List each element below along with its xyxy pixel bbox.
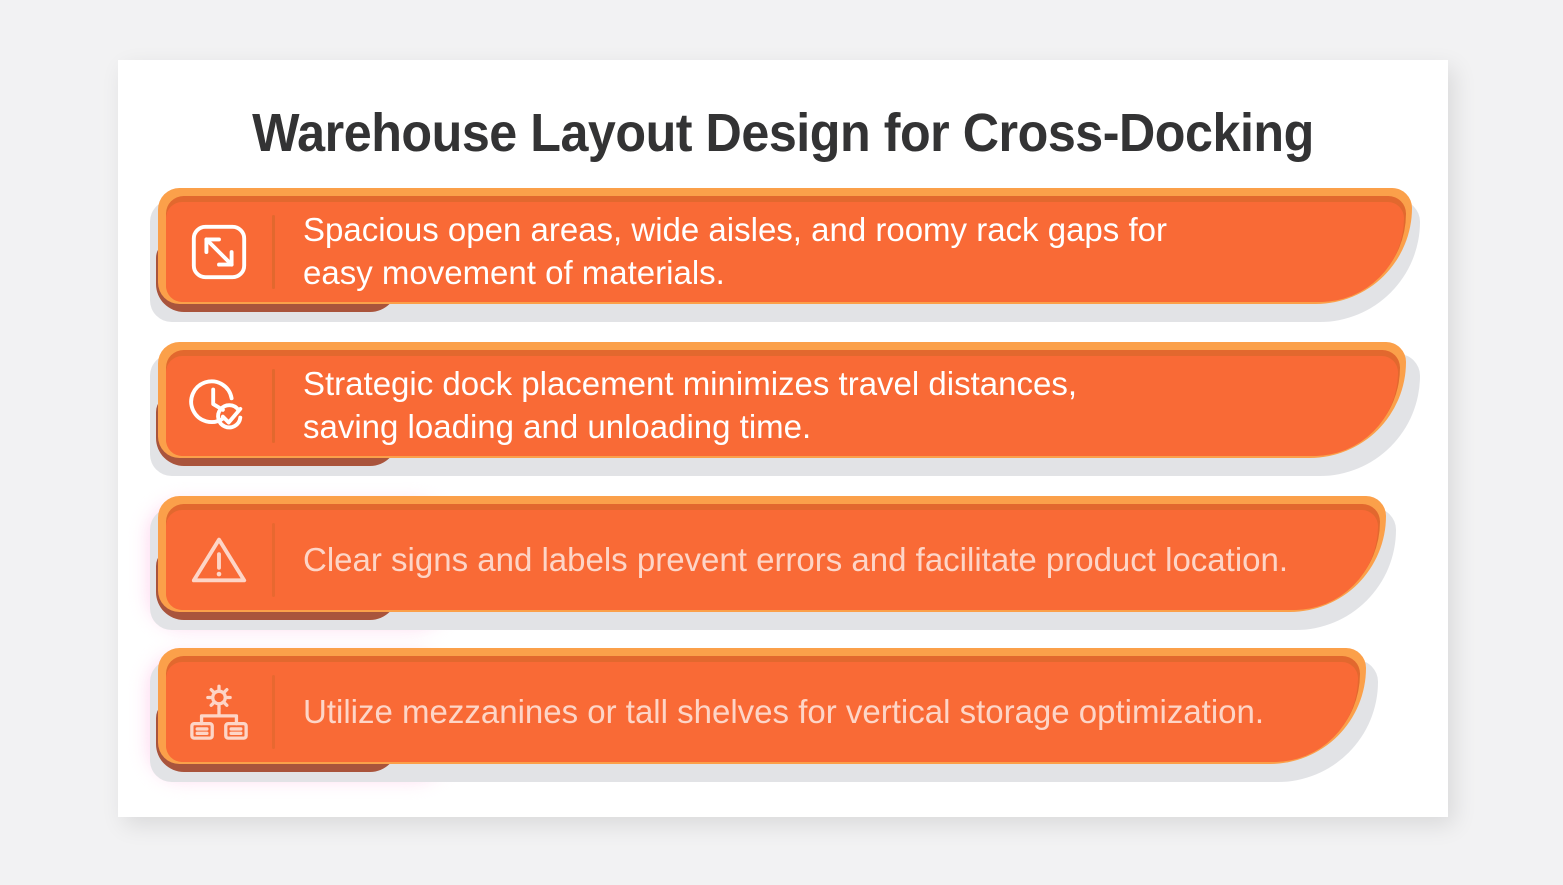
card-divider — [272, 369, 275, 443]
list-item-text: Spacious open areas, wide aisles, and ro… — [303, 209, 1167, 295]
card-content: Strategic dock placement minimizes trave… — [166, 356, 1077, 456]
card-content: Utilize mezzanines or tall shelves for v… — [166, 662, 1264, 762]
list-item-text: Utilize mezzanines or tall shelves for v… — [303, 691, 1264, 734]
list-item-text: Clear signs and labels prevent errors an… — [303, 539, 1288, 582]
card-content: Clear signs and labels prevent errors an… — [166, 510, 1288, 610]
card-divider — [272, 675, 275, 749]
card-content: Spacious open areas, wide aisles, and ro… — [166, 202, 1167, 302]
list-item-text: Strategic dock placement minimizes trave… — [303, 363, 1077, 449]
page-title: Warehouse Layout Design for Cross-Dockin… — [165, 102, 1402, 164]
list-item[interactable]: Spacious open areas, wide aisles, and ro… — [140, 188, 1450, 340]
slide-panel: Warehouse Layout Design for Cross-Dockin… — [118, 60, 1448, 817]
list-item[interactable]: Clear signs and labels prevent errors an… — [140, 496, 1450, 648]
list-item[interactable]: Strategic dock placement minimizes trave… — [140, 342, 1450, 494]
clock-check-icon — [166, 375, 272, 437]
warning-triangle-icon — [166, 529, 272, 591]
gear-hierarchy-icon — [166, 681, 272, 743]
list-item[interactable]: Utilize mezzanines or tall shelves for v… — [140, 648, 1450, 800]
card-divider — [272, 523, 275, 597]
resize-diagonal-icon — [166, 221, 272, 283]
card-divider — [272, 215, 275, 289]
